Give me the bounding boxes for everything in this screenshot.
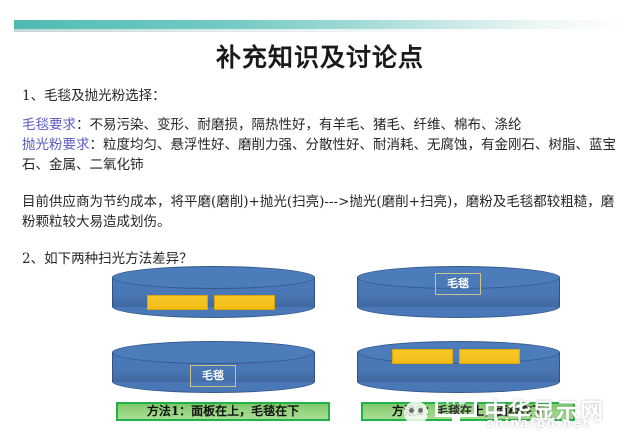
disc-top-ellipse: [112, 341, 315, 364]
powder-requirement-text: ：粒度均匀、悬浮性好、磨削力强、分散性好、耐消耗、无腐蚀，有金刚石、树脂、蓝宝石…: [22, 137, 616, 173]
panel-strip-left: [147, 295, 208, 310]
felt-label-box: 毛毯: [190, 365, 236, 387]
felt-requirement-line: 毛毯要求：不易污染、变形、耐磨损，隔热性好，有羊毛、猪毛、纤维、棉布、涤纶: [22, 115, 622, 135]
disc-top-ellipse: [112, 266, 315, 289]
method-comparison-diagram: 毛毯 方法1：面板在上，毛毯在下 毛毯 方法2：毛毯在上，面板在下: [0, 266, 640, 433]
method2-bottom-disc-panel: [357, 341, 560, 393]
felt-label-box: 毛毯: [435, 273, 481, 295]
powder-requirement-label: 抛光粉要求: [22, 137, 90, 153]
felt-requirement-label: 毛毯要求: [22, 117, 76, 133]
felt-requirement-text: ：不易污染、变形、耐磨损，隔热性好，有羊毛、猪毛、纤维、棉布、涤纶: [76, 117, 522, 133]
header-gradient-bar: [14, 20, 626, 29]
body-content: 1、毛毯及抛光粉选择： 毛毯要求：不易污染、变形、耐磨损，隔热性好，有羊毛、猪毛…: [22, 86, 622, 278]
method1-top-disc-panel: [112, 266, 315, 318]
panel-strip-right: [459, 349, 520, 364]
method1-caption: 方法1：面板在上，毛毯在下: [116, 402, 330, 421]
paragraph-spacer: [22, 184, 622, 192]
slide-canvas: 补充知识及讨论点 1、毛毯及抛光粉选择： 毛毯要求：不易污染、变形、耐磨损，隔热…: [0, 0, 640, 433]
page-title: 补充知识及讨论点: [0, 38, 640, 74]
method1-group: 毛毯 方法1：面板在上，毛毯在下: [112, 266, 337, 433]
paragraph-spacer-2: [22, 241, 622, 249]
method2-caption: 方法2：毛毯在上，面板在下: [361, 402, 575, 421]
method1-bottom-disc-felt: 毛毯: [112, 341, 315, 393]
method2-top-disc-felt: 毛毯: [357, 266, 560, 318]
panel-strip-left: [392, 349, 453, 364]
method2-group: 毛毯 方法2：毛毯在上，面板在下: [357, 266, 582, 433]
section1-heading: 1、毛毯及抛光粉选择：: [22, 86, 622, 106]
powder-requirement-line: 抛光粉要求：粒度均匀、悬浮性好、磨削力强、分散性好、耐消耗、无腐蚀，有金刚石、树…: [22, 135, 622, 175]
header-gradient-shadow: [14, 29, 626, 32]
panel-strip-right: [214, 295, 275, 310]
supplier-note: 目前供应商为节约成本，将平磨(磨削)+抛光(扫亮)--->抛光(磨削+扫亮)，磨…: [22, 192, 622, 232]
